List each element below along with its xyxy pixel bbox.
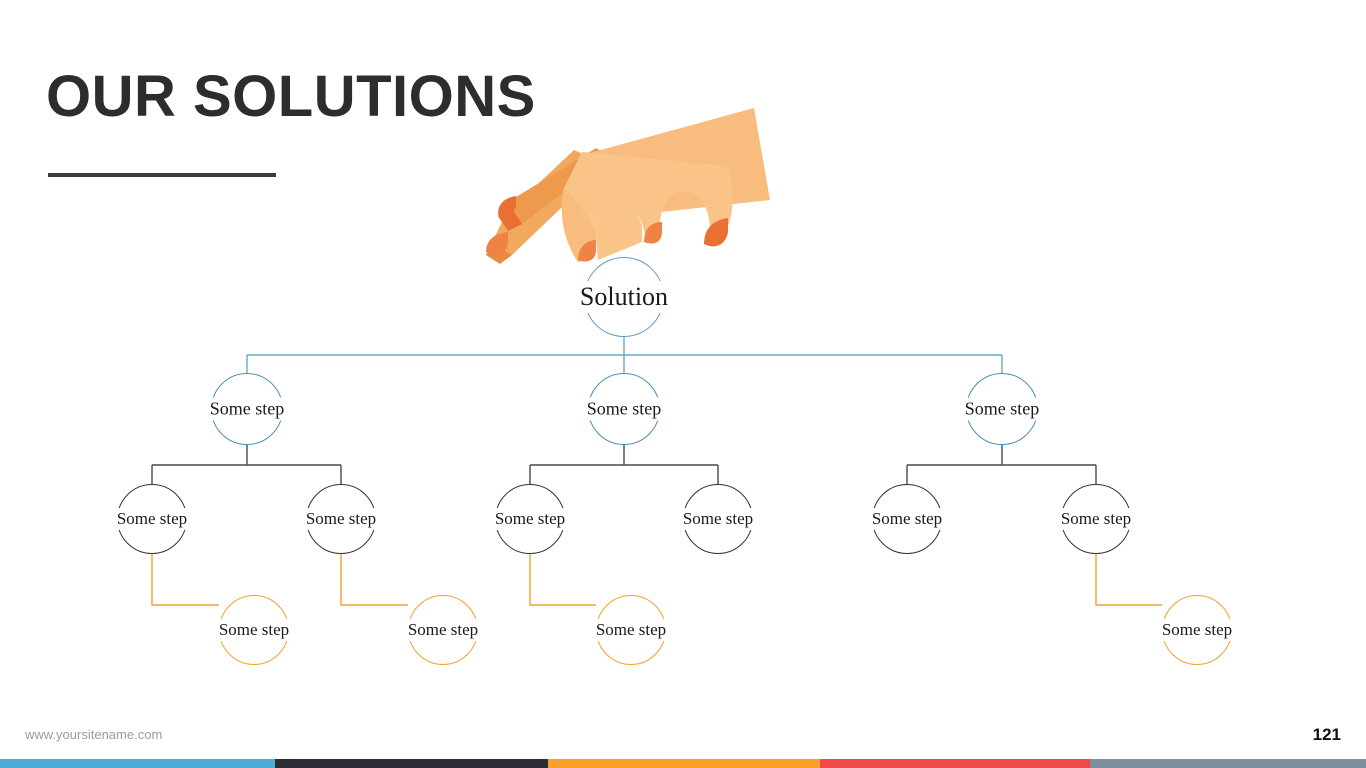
bottom-bar-segment-orange	[548, 759, 820, 768]
tree-node-l3-b2[interactable]: Some step	[672, 473, 764, 565]
tree-node-l4-2[interactable]: Some step	[397, 584, 489, 676]
footer-website-url[interactable]: www.yoursitename.com	[25, 727, 162, 742]
node-label: Solution	[573, 281, 675, 313]
tree-node-l3-a1[interactable]: Some step	[106, 473, 198, 565]
node-label: Some step	[676, 508, 760, 530]
tree-node-l3-c2[interactable]: Some step	[1050, 473, 1142, 565]
node-label: Some step	[1155, 619, 1239, 641]
slide-canvas: OUR SOLUTIONS	[0, 0, 1366, 768]
page-title: OUR SOLUTIONS	[46, 68, 536, 126]
node-label: Some step	[203, 398, 292, 421]
node-label: Some step	[488, 508, 572, 530]
node-label: Some step	[299, 508, 383, 530]
page-number: 121	[1313, 725, 1341, 745]
tree-node-l3-b1[interactable]: Some step	[484, 473, 576, 565]
bottom-bar-segment-charcoal	[275, 759, 548, 768]
title-underline-rule	[48, 173, 276, 177]
tree-node-l4-4[interactable]: Some step	[1151, 584, 1243, 676]
tree-node-l2-a[interactable]: Some step	[199, 361, 295, 457]
bottom-bar-segment-red	[820, 759, 1090, 768]
node-label: Some step	[212, 619, 296, 641]
bottom-bar-segment-gray	[1090, 759, 1366, 768]
node-label: Some step	[580, 398, 669, 421]
tree-node-root[interactable]: Solution	[569, 242, 679, 352]
tree-node-l2-c[interactable]: Some step	[954, 361, 1050, 457]
node-label: Some step	[865, 508, 949, 530]
node-label: Some step	[110, 508, 194, 530]
bottom-color-bar	[0, 759, 1366, 768]
tree-node-l4-1[interactable]: Some step	[208, 584, 300, 676]
tree-node-l3-c1[interactable]: Some step	[861, 473, 953, 565]
node-label: Some step	[1054, 508, 1138, 530]
bottom-bar-segment-blue	[0, 759, 275, 768]
tree-node-l2-b[interactable]: Some step	[576, 361, 672, 457]
tree-node-l4-3[interactable]: Some step	[585, 584, 677, 676]
node-label: Some step	[589, 619, 673, 641]
node-label: Some step	[401, 619, 485, 641]
node-label: Some step	[958, 398, 1047, 421]
tree-node-l3-a2[interactable]: Some step	[295, 473, 387, 565]
